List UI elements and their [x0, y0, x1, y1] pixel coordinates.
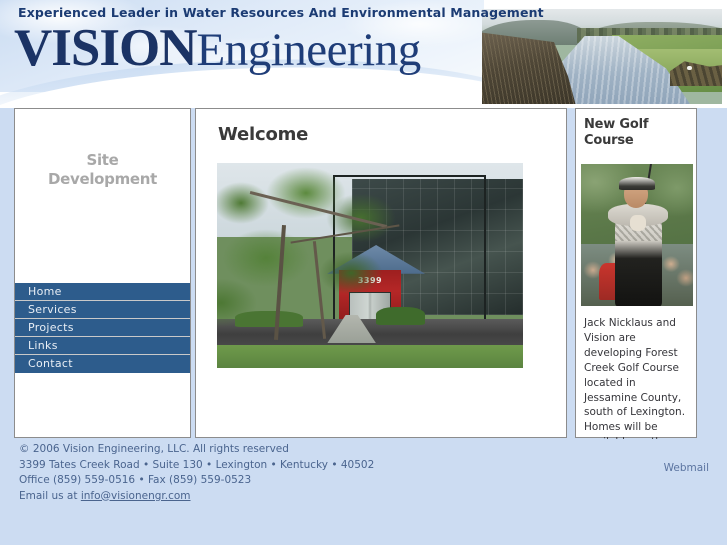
sidebar-item-home[interactable]: Home	[15, 283, 190, 301]
footer-email-prefix: Email us at	[19, 490, 81, 502]
footer-email-link[interactable]: info@visionengr.com	[81, 490, 191, 502]
sidebar-item-links[interactable]: Links	[15, 337, 190, 355]
right-sidebar-title-line-1: New Golf	[584, 117, 690, 133]
building-photo-lawn	[217, 345, 523, 368]
footer-copyright: © 2006 Vision Engineering, LLC. All righ…	[19, 442, 374, 458]
company-logo[interactable]: VISIONEngineering	[14, 22, 421, 75]
golf-photo-golfer-cap	[619, 177, 655, 190]
sidebar-item-projects[interactable]: Projects	[15, 319, 190, 337]
river-photo-sheep	[687, 66, 692, 70]
right-sidebar: New Golf Course Jack Nicklaus and Vision…	[575, 108, 697, 438]
footer-email-line: Email us at info@visionengr.com	[19, 489, 374, 505]
sidebar-item-services[interactable]: Services	[15, 301, 190, 319]
sidebar: Site Development Home Services Projects …	[14, 108, 191, 438]
main-navigation: Home Services Projects Links Contact	[15, 283, 190, 373]
logo-text-vision: VISION	[14, 19, 197, 77]
footer-address: 3399 Tates Creek Road • Suite 130 • Lexi…	[19, 458, 374, 474]
site-header-banner: Experienced Leader in Water Resources An…	[0, 0, 727, 108]
company-tagline: Experienced Leader in Water Resources An…	[18, 5, 544, 20]
header-river-photo	[482, 9, 722, 104]
golf-photo-golfer-hands	[630, 215, 646, 231]
right-sidebar-title-line-2: Course	[584, 133, 690, 149]
webmail-link[interactable]: Webmail	[664, 462, 709, 474]
page-title: Welcome	[218, 124, 308, 145]
office-building-photo: 3399	[217, 163, 523, 368]
sidebar-heading-line-2: Development	[15, 170, 190, 189]
site-footer: © 2006 Vision Engineering, LLC. All righ…	[0, 439, 727, 545]
main-content: Welcome 3399	[195, 108, 567, 438]
footer-phone: Office (859) 559-0516 • Fax (859) 559-05…	[19, 473, 374, 489]
sidebar-heading: Site Development	[15, 151, 190, 189]
right-sidebar-title: New Golf Course	[584, 117, 690, 148]
footer-info: © 2006 Vision Engineering, LLC. All righ…	[19, 442, 374, 504]
golfer-photo	[581, 164, 693, 306]
sidebar-item-contact[interactable]: Contact	[15, 355, 190, 373]
logo-text-engineering: Engineering	[197, 24, 421, 76]
building-photo-trees	[217, 163, 437, 339]
sidebar-heading-line-1: Site	[15, 151, 190, 170]
